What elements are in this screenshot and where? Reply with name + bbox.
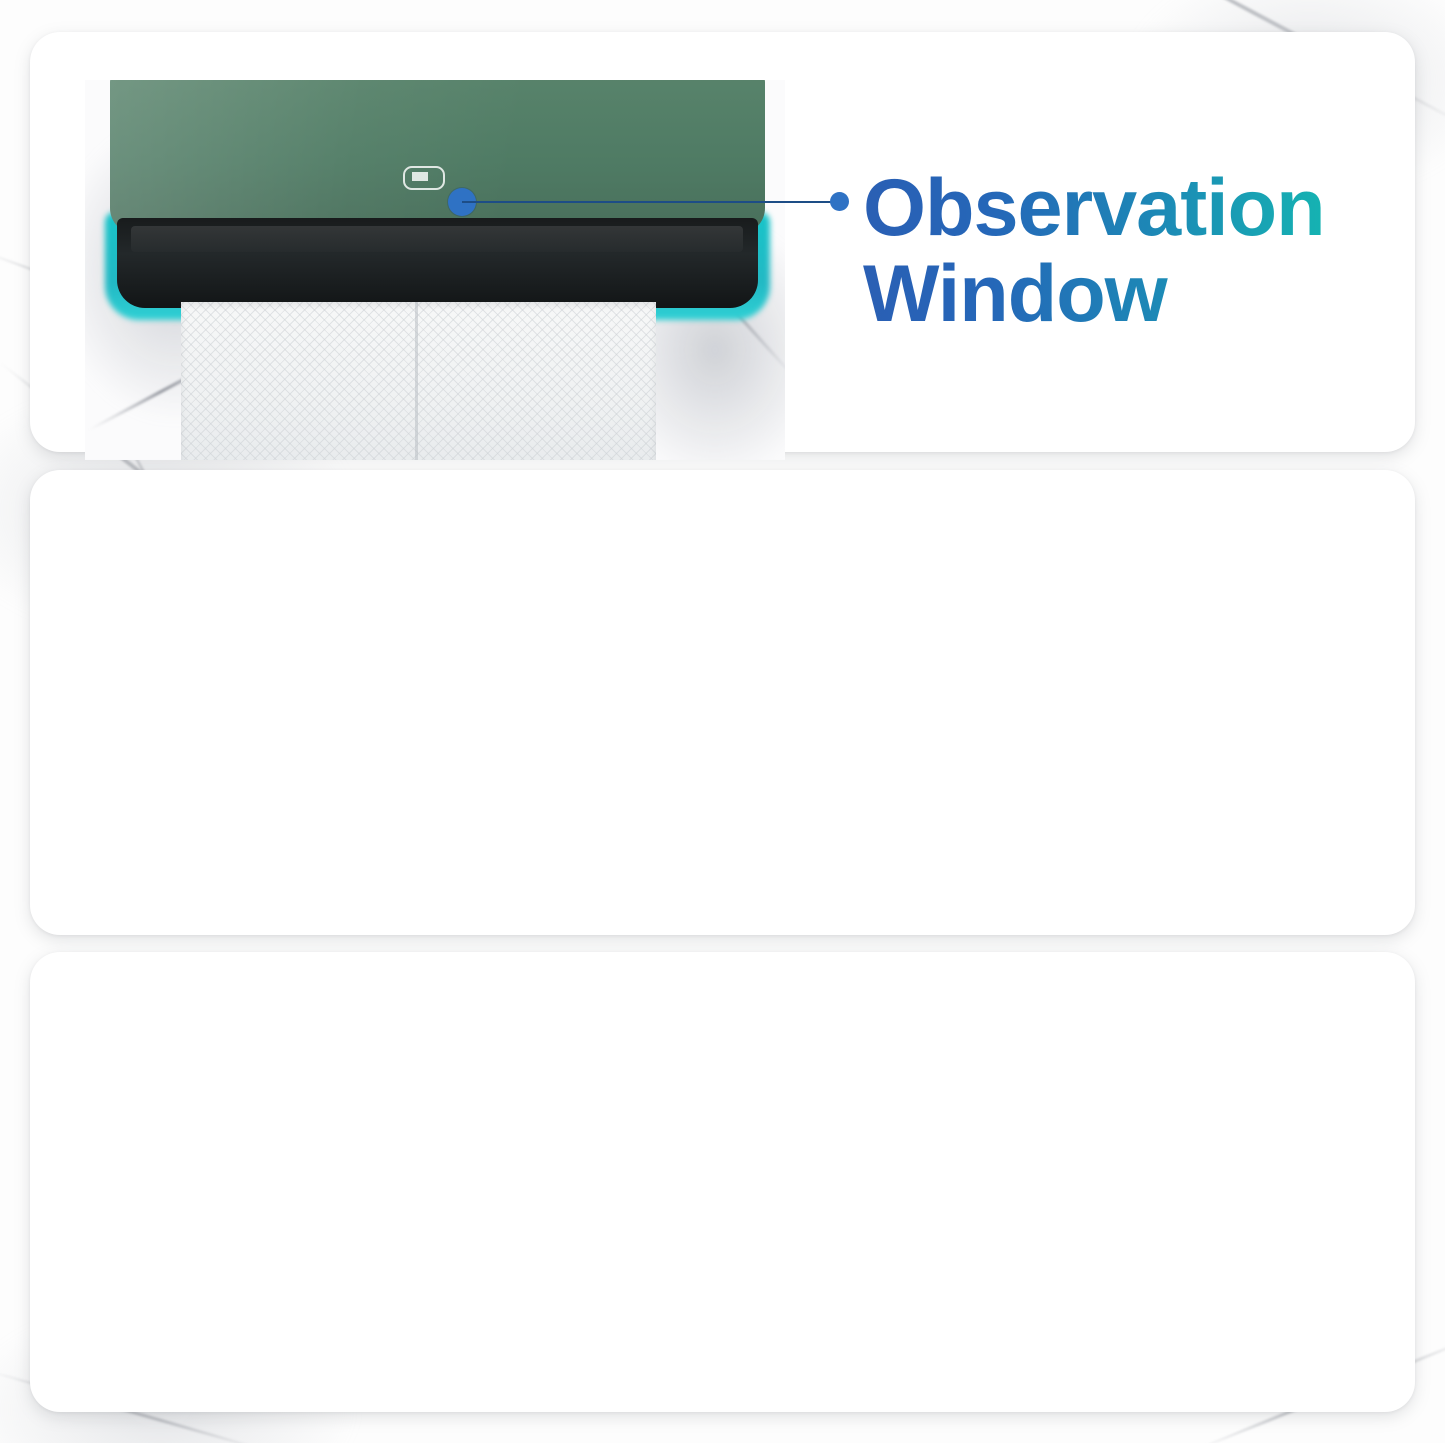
feature-card-lock-design: Lock Design — [30, 470, 1415, 935]
feature-card-observation-window: Observation Window — [30, 32, 1415, 452]
paper-level-icon — [403, 166, 445, 190]
callout-line-inner — [462, 201, 785, 203]
paper-fold-line — [415, 302, 418, 460]
feature-card-curved-paper-outlet: M Curved Paper Outlet — [30, 952, 1415, 1412]
paper-towel — [181, 302, 656, 460]
dispenser-body-sheen — [110, 80, 765, 234]
infographic-page: Observation Window — [0, 0, 1445, 1443]
product-photo-observation-window — [85, 80, 785, 460]
window-gloss — [131, 226, 743, 252]
callout-end-dot — [830, 192, 849, 211]
feature-label-observation-window: Observation Window — [863, 166, 1325, 338]
